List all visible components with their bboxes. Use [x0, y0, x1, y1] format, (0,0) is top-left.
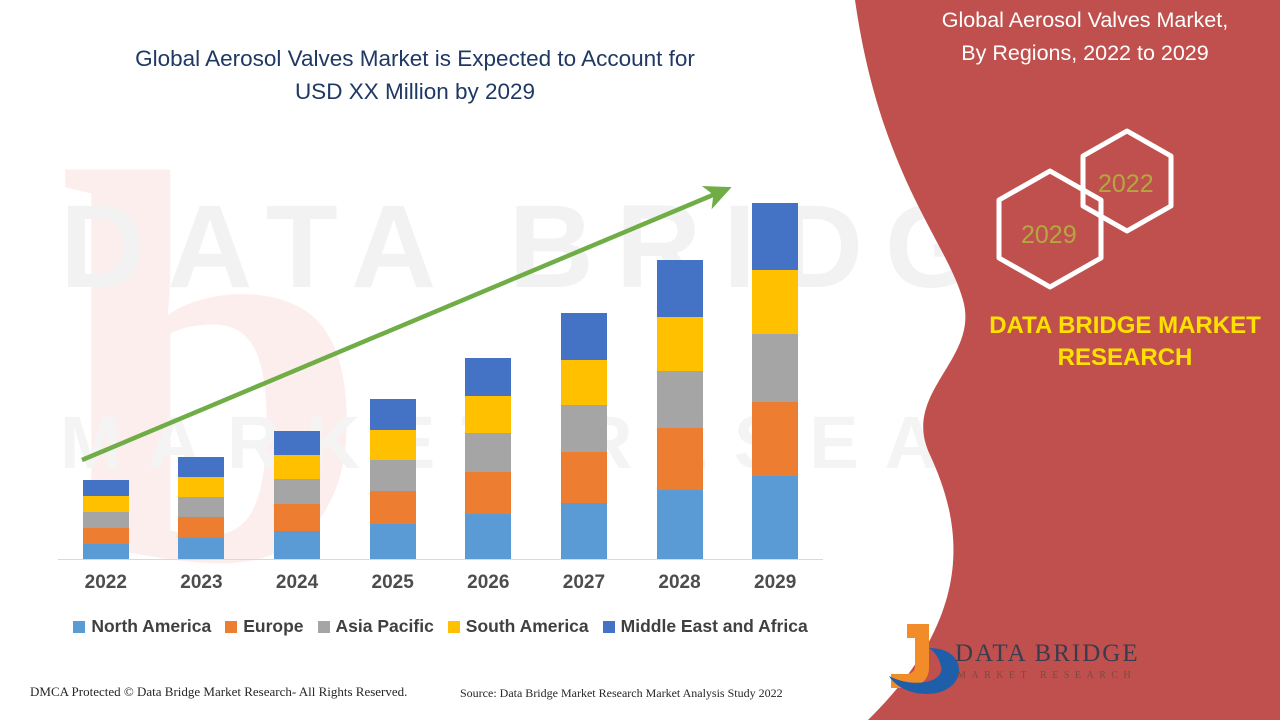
- bar-segment[interactable]: [178, 517, 224, 538]
- page-title: Global Aerosol Valves Market is Expected…: [60, 42, 770, 108]
- legend-item[interactable]: Asia Pacific: [318, 616, 434, 637]
- right-panel-brand: DATA BRIDGE MARKET RESEARCH: [960, 310, 1280, 374]
- bar-segment[interactable]: [178, 477, 224, 497]
- bar-segment[interactable]: [465, 358, 511, 396]
- logo-text-secondary: MARKET RESEARCH: [957, 670, 1136, 681]
- bar-segment[interactable]: [83, 512, 129, 528]
- bar-segment[interactable]: [370, 399, 416, 430]
- right-panel-title-line-1: Global Aerosol Valves Market,: [900, 4, 1270, 37]
- bar-segment[interactable]: [178, 497, 224, 517]
- legend-swatch-icon: [225, 621, 237, 633]
- legend-label: North America: [91, 616, 211, 637]
- page-title-line-2: USD XX Million by 2029: [60, 75, 770, 108]
- legend-label: Middle East and Africa: [621, 616, 808, 637]
- x-axis-tick-label: 2028: [632, 572, 728, 594]
- bar-segment[interactable]: [274, 504, 320, 531]
- bar-segment[interactable]: [370, 430, 416, 460]
- bar-column: [345, 160, 441, 560]
- stacked-bar[interactable]: [83, 480, 129, 560]
- bar-segment[interactable]: [83, 528, 129, 544]
- bar-segment[interactable]: [561, 405, 607, 452]
- hexagon-2029-label: 2029: [1021, 221, 1077, 250]
- x-axis-tick-label: 2022: [58, 572, 154, 594]
- legend-label: Asia Pacific: [336, 616, 434, 637]
- bar-segment[interactable]: [752, 334, 798, 402]
- bar-segment[interactable]: [561, 503, 607, 560]
- right-panel-title-line-2: By Regions, 2022 to 2029: [900, 37, 1270, 70]
- stacked-bar-chart: [58, 160, 823, 560]
- right-panel-title: Global Aerosol Valves Market, By Regions…: [900, 4, 1270, 70]
- bar-segment[interactable]: [657, 371, 703, 428]
- chart-legend: North AmericaEuropeAsia PacificSouth Ame…: [58, 616, 823, 637]
- legend-swatch-icon: [448, 621, 460, 633]
- right-panel-brand-line-2: RESEARCH: [960, 342, 1280, 374]
- x-axis-tick-label: 2024: [249, 572, 345, 594]
- legend-swatch-icon: [73, 621, 85, 633]
- footer-source: Source: Data Bridge Market Research Mark…: [460, 686, 783, 701]
- page-title-line-1: Global Aerosol Valves Market is Expected…: [60, 42, 770, 75]
- stacked-bar[interactable]: [370, 399, 416, 560]
- x-axis-tick-label: 2025: [345, 572, 441, 594]
- bar-segment[interactable]: [465, 396, 511, 433]
- logo-text-primary: DATA BRIDGE: [955, 640, 1140, 668]
- bar-segment[interactable]: [274, 531, 320, 560]
- bar-segment[interactable]: [178, 457, 224, 477]
- slide-canvas: b DATA BRIDGE MARKET RESEARCH Global Aer…: [0, 0, 1280, 720]
- bar-segment[interactable]: [370, 524, 416, 560]
- bar-segment[interactable]: [370, 491, 416, 524]
- bar-segment[interactable]: [178, 538, 224, 560]
- stacked-bar[interactable]: [274, 431, 320, 560]
- stacked-bar[interactable]: [752, 203, 798, 560]
- bar-segment[interactable]: [752, 270, 798, 334]
- hexagon-badges: [975, 105, 1195, 295]
- legend-label: Europe: [243, 616, 303, 637]
- bar-segment[interactable]: [274, 455, 320, 479]
- bar-segment[interactable]: [465, 433, 511, 472]
- legend-item[interactable]: Middle East and Africa: [603, 616, 808, 637]
- bar-segment[interactable]: [83, 544, 129, 560]
- x-axis-tick-label: 2029: [727, 572, 823, 594]
- bar-segment[interactable]: [752, 203, 798, 270]
- legend-item[interactable]: North America: [73, 616, 211, 637]
- x-axis-labels: 20222023202420252026202720282029: [58, 572, 823, 594]
- bar-segment[interactable]: [83, 496, 129, 512]
- x-axis-tick-label: 2027: [536, 572, 632, 594]
- bar-segment[interactable]: [657, 317, 703, 371]
- bar-segment[interactable]: [657, 428, 703, 490]
- bar-column: [632, 160, 728, 560]
- legend-swatch-icon: [318, 621, 330, 633]
- bar-segment[interactable]: [752, 402, 798, 476]
- bar-segment[interactable]: [465, 514, 511, 560]
- bar-segment[interactable]: [274, 431, 320, 455]
- bar-segment[interactable]: [752, 476, 798, 560]
- bar-group: [58, 160, 823, 560]
- bar-segment[interactable]: [561, 452, 607, 503]
- bar-segment[interactable]: [561, 360, 607, 405]
- bar-segment[interactable]: [657, 490, 703, 560]
- footer-copyright: DMCA Protected © Data Bridge Market Rese…: [30, 684, 407, 700]
- stacked-bar[interactable]: [561, 313, 607, 560]
- hexagon-2022-label: 2022: [1098, 170, 1154, 199]
- right-panel-brand-line-1: DATA BRIDGE MARKET: [960, 310, 1280, 342]
- stacked-bar[interactable]: [657, 260, 703, 560]
- bar-column: [249, 160, 345, 560]
- bar-column: [441, 160, 537, 560]
- stacked-bar[interactable]: [465, 358, 511, 560]
- x-axis-tick-label: 2026: [441, 572, 537, 594]
- legend-item[interactable]: Europe: [225, 616, 303, 637]
- bar-segment[interactable]: [561, 313, 607, 360]
- legend-swatch-icon: [603, 621, 615, 633]
- bar-column: [536, 160, 632, 560]
- bar-segment[interactable]: [465, 472, 511, 514]
- bar-segment[interactable]: [657, 260, 703, 317]
- stacked-bar[interactable]: [178, 457, 224, 560]
- bar-segment[interactable]: [370, 460, 416, 491]
- bar-segment[interactable]: [274, 479, 320, 504]
- bar-column: [58, 160, 154, 560]
- bar-column: [727, 160, 823, 560]
- x-axis-line: [58, 559, 823, 560]
- legend-label: South America: [466, 616, 589, 637]
- x-axis-tick-label: 2023: [154, 572, 250, 594]
- bar-column: [154, 160, 250, 560]
- legend-item[interactable]: South America: [448, 616, 589, 637]
- bar-segment[interactable]: [83, 480, 129, 496]
